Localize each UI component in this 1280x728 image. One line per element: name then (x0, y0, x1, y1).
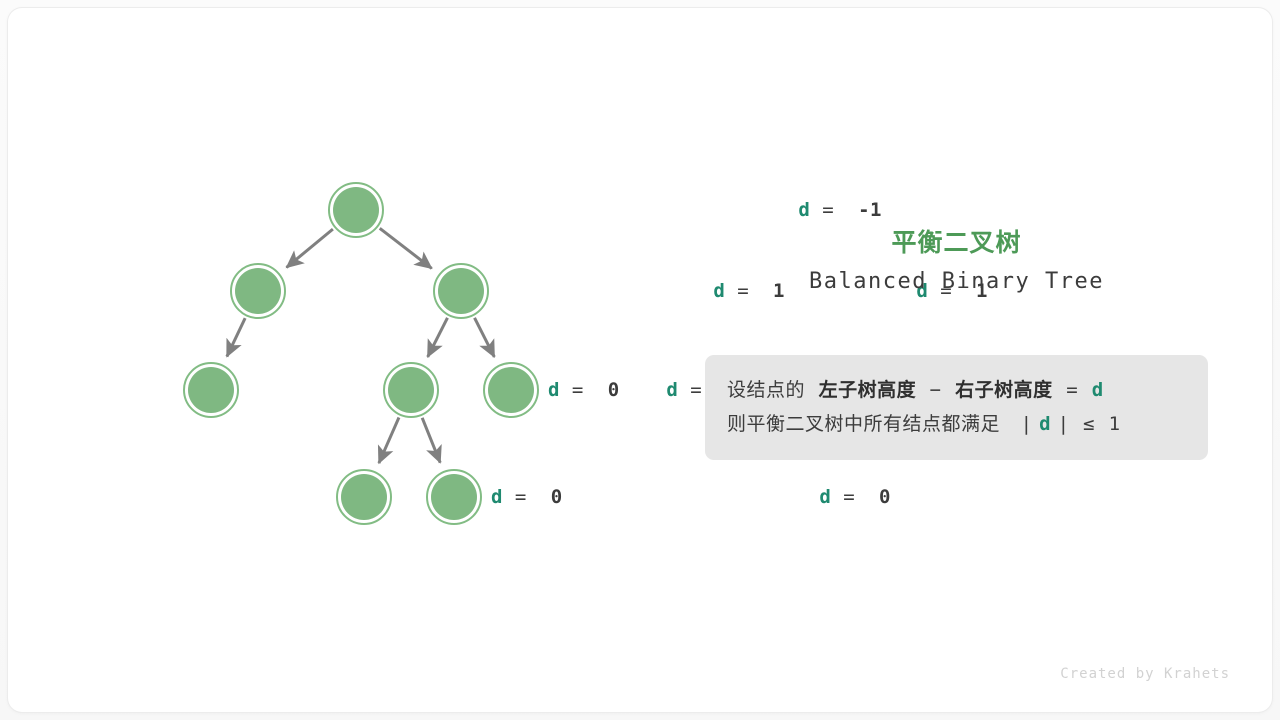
diagram-canvas: d = -1d = 1d = 1d = 0d = 0d = 0d = 0d = … (0, 0, 1280, 720)
node-label-equals: = (503, 486, 551, 508)
node-label-variable: d (491, 486, 503, 508)
equals-sign: = (1066, 379, 1078, 401)
node-label-value: 0 (879, 486, 891, 508)
page-title: 平衡二叉树 (705, 226, 1208, 260)
watermark: Created by Krahets (1060, 666, 1230, 682)
tree-node[interactable] (235, 268, 281, 314)
tree-node[interactable] (431, 474, 477, 520)
binary-tree-graphic (8, 8, 708, 728)
abs-bar-open: | (1021, 413, 1033, 435)
node-label-equals: = (810, 199, 858, 221)
content-card: d = -1d = 1d = 1d = 0d = 0d = 0d = 0d = … (8, 8, 1272, 712)
abs-bar-close: | (1058, 413, 1070, 435)
node-label-variable: d (819, 486, 831, 508)
node-label-equals: = (560, 379, 608, 401)
page-subtitle: Balanced Binary Tree (705, 266, 1208, 298)
minus-operator: − (930, 379, 942, 401)
tree-edge (475, 318, 495, 357)
definition-line-1: 设结点的 左子树高度 − 右子树高度 = d (727, 373, 1186, 407)
less-equal-sign: ≤ (1083, 413, 1095, 435)
tree-node[interactable] (333, 187, 379, 233)
node-label-value: 0 (551, 486, 563, 508)
node-label-value: -1 (858, 199, 882, 221)
tree-edge (227, 318, 245, 356)
info-panel: 平衡二叉树 Balanced Binary Tree 设结点的 左子树高度 − … (705, 226, 1208, 460)
tree-node-layer (184, 183, 538, 524)
node-label-value: 0 (608, 379, 620, 401)
tree-edge-layer (227, 228, 494, 463)
variable-d: d (1092, 379, 1104, 401)
balance-limit-value: 1 (1109, 413, 1121, 435)
tree-node[interactable] (438, 268, 484, 314)
tree-edge (380, 228, 432, 268)
tree-edge (287, 229, 333, 267)
definition-box: 设结点的 左子树高度 − 右子树高度 = d 则平衡二叉树中所有结点都满足 | … (705, 355, 1208, 460)
node-label-equals: = (831, 486, 879, 508)
tree-node[interactable] (388, 367, 434, 413)
tree-edge (379, 417, 399, 463)
node-balance-label: d = 0 (491, 486, 563, 508)
tree-node[interactable] (188, 367, 234, 413)
balance-condition-prefix: 则平衡二叉树中所有结点都满足 (727, 413, 1000, 435)
right-subtree-height-term: 右子树高度 (955, 379, 1053, 401)
definition-prefix: 设结点的 (727, 379, 805, 401)
node-balance-label: d = 0 (548, 379, 620, 401)
tree-edge (428, 318, 448, 357)
node-balance-label: d = 0 (819, 486, 891, 508)
tree-edge (422, 418, 440, 463)
node-label-variable: d (666, 379, 678, 401)
tree-node[interactable] (488, 367, 534, 413)
tree-node[interactable] (341, 474, 387, 520)
variable-d-abs: d (1039, 413, 1051, 435)
definition-line-2: 则平衡二叉树中所有结点都满足 | d | ≤ 1 (727, 407, 1186, 441)
node-label-variable: d (548, 379, 560, 401)
node-label-variable: d (798, 199, 810, 221)
node-balance-label: d = -1 (798, 199, 882, 221)
left-subtree-height-term: 左子树高度 (819, 379, 917, 401)
